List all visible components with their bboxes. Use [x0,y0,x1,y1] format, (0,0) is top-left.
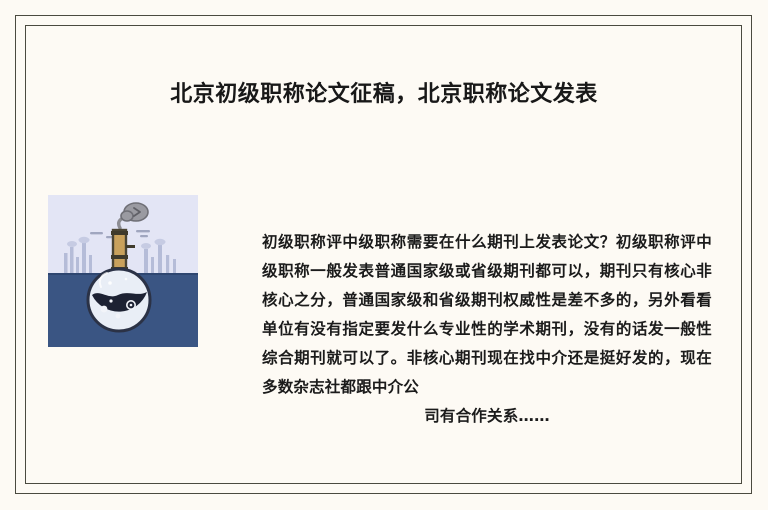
article-paragraph: 初级职称评中级职称需要在什么期刊上发表论文？初级职称评中级职称一般发表普通国家级… [262,233,712,396]
article-last-line: 司有合作关系…… [262,402,712,431]
article-illustration [48,195,198,347]
page-title: 北京初级职称论文征稿，北京职称论文发表 [60,80,708,110]
bottle-pollution-icon [48,195,198,347]
article-body: 初级职称评中级职称需要在什么期刊上发表论文？初级职称评中级职称一般发表普通国家级… [262,228,712,460]
